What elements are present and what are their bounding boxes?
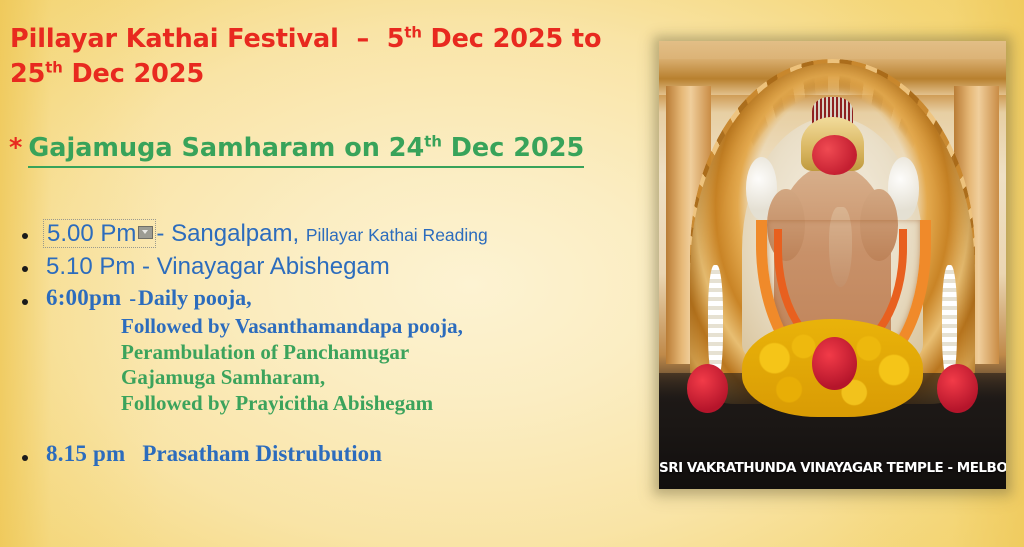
temple-photo-frame: SRI VAKRATHUNDA VINAYAGAR TEMPLE - MELBO…: [659, 41, 1006, 489]
item2-text: 5.10 Pm - Vinayagar Abishegam: [46, 253, 390, 280]
schedule-list: 5.00 Pm- Sangalpam, Pillayar Kathai Read…: [0, 218, 640, 470]
rose-cluster-right: [937, 364, 979, 413]
smart-tag-dropdown-icon[interactable]: [138, 226, 153, 239]
list-item-sangalpam: 5.00 Pm- Sangalpam, Pillayar Kathai Read…: [0, 218, 640, 251]
item1-dash: -: [156, 220, 164, 247]
item1-note: Pillayar Kathai Reading: [306, 225, 488, 245]
title-line1-event: Pillayar Kathai Festival: [10, 24, 339, 54]
ganesha-deity-photo: SRI VAKRATHUNDA VINAYAGAR TEMPLE - MELBO…: [659, 41, 1006, 489]
item1-time: 5.00 Pm: [47, 220, 136, 247]
item3-subline-4: Followed by Prayicitha Abishegam: [121, 391, 640, 417]
title-end-day: 25: [10, 59, 45, 89]
item3-sub-lines: Followed by Vasanthamandapa pooja, Peram…: [0, 314, 640, 416]
crown-flower: [812, 135, 857, 175]
item4-label: Prasatham Distrubution: [125, 441, 382, 466]
list-item-prasatham: 8.15 pmPrasatham Distrubution: [0, 441, 640, 470]
title-start-month-year: Dec 2025 to: [431, 24, 602, 54]
item3-subline-3: Gajamuga Samharam,: [121, 365, 640, 391]
photo-caption: SRI VAKRATHUNDA VINAYAGAR TEMPLE - MELBO…: [659, 460, 1006, 476]
bullet-dot-icon: [22, 299, 28, 305]
bullet-dot-icon: [22, 455, 28, 461]
slide-subtitle: *Gajamuga Samharam on 24th Dec 2025: [9, 132, 639, 164]
title-start-day-suffix: th: [404, 25, 421, 42]
title-end-month-year: Dec 2025: [71, 59, 204, 89]
item3-subline-1: Followed by Vasanthamandapa pooja,: [121, 314, 640, 340]
item3-first-line: Daily pooja,: [138, 285, 252, 310]
title-start-day: 5: [387, 24, 405, 54]
rose-cluster-center: [812, 337, 857, 391]
title-dash: –: [356, 24, 369, 54]
bullet-dot-icon: [22, 266, 28, 272]
item3-time: 6:00pm: [46, 285, 121, 310]
subtitle-text-tail: Dec 2025: [451, 133, 584, 163]
item3-dash: -: [121, 288, 138, 310]
rose-cluster-left: [687, 364, 729, 413]
list-item-abishegam: 5.10 Pm - Vinayagar Abishegam: [0, 251, 640, 282]
subtitle-day-suffix: th: [424, 134, 442, 151]
subtitle-highlight: Gajamuga Samharam on 24th Dec 2025: [28, 133, 584, 168]
item3-subline-2: Perambulation of Panchamugar: [121, 340, 640, 366]
list-item-daily-pooja: 6:00pm-Daily pooja,: [0, 285, 640, 314]
presentation-slide: Pillayar Kathai Festival – 5th Dec 2025 …: [0, 0, 1024, 547]
subtitle-text-main: Gajamuga Samharam on 24: [28, 133, 424, 163]
slide-text-column: Pillayar Kathai Festival – 5th Dec 2025 …: [0, 0, 648, 547]
smart-tag-selection-box[interactable]: 5.00 Pm: [43, 219, 156, 248]
subtitle-asterisk: *: [9, 133, 22, 163]
title-end-day-suffix: th: [45, 60, 62, 77]
bullet-dot-icon: [22, 233, 28, 239]
item1-title: Sangalpam,: [171, 220, 299, 247]
item4-time: 8.15 pm: [46, 441, 125, 466]
slide-title: Pillayar Kathai Festival – 5th Dec 2025 …: [10, 22, 640, 92]
